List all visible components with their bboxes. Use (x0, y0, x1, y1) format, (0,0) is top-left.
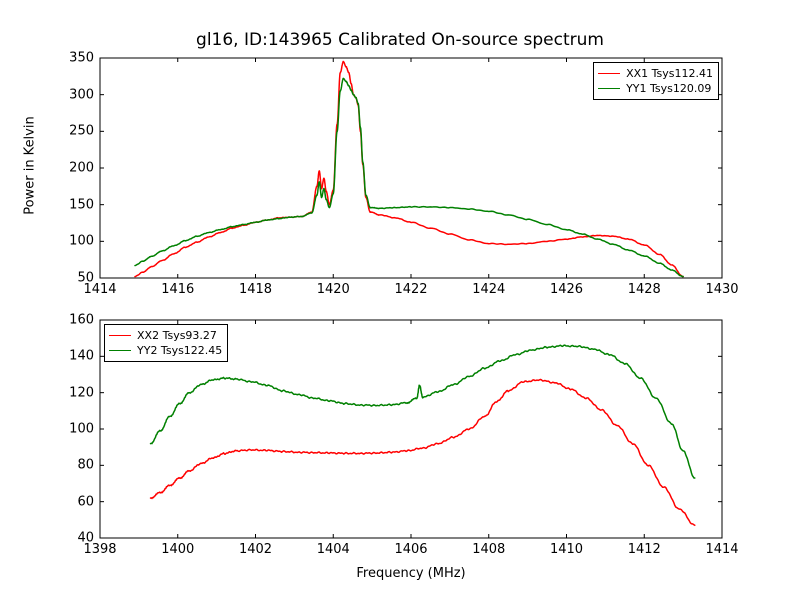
legend-label: YY2 Tsys122.45 (137, 343, 222, 358)
legend-color-swatch (598, 88, 620, 89)
y-tick-label: 250 (54, 124, 94, 139)
legend-item[interactable]: XX1 Tsys112.41 (598, 66, 713, 81)
x-tick-label: 1426 (550, 282, 583, 297)
x-tick-label: 1400 (161, 542, 194, 557)
y-tick-label: 40 (54, 531, 94, 546)
y-tick-label: 60 (54, 494, 94, 509)
legend-item[interactable]: YY1 Tsys120.09 (598, 81, 713, 96)
y-tick-label: 120 (54, 385, 94, 400)
x-tick-label: 1424 (472, 282, 505, 297)
y-tick-label: 100 (54, 422, 94, 437)
y-tick-label: 160 (54, 313, 94, 328)
top-panel-legend[interactable]: XX1 Tsys112.41YY1 Tsys120.09 (593, 62, 719, 100)
y-tick-label: 100 (54, 234, 94, 249)
legend-color-swatch (109, 335, 131, 336)
top-panel-ylabel: Power in Kelvin (23, 86, 38, 246)
legend-color-swatch (109, 350, 131, 351)
y-tick-label: 80 (54, 458, 94, 473)
bottom-panel-legend[interactable]: XX2 Tsys93.27YY2 Tsys122.45 (104, 324, 228, 362)
x-tick-label: 1430 (705, 282, 738, 297)
legend-label: YY1 Tsys120.09 (626, 81, 711, 96)
x-tick-label: 1408 (472, 542, 505, 557)
y-tick-label: 300 (54, 87, 94, 102)
legend-label: XX1 Tsys112.41 (626, 66, 713, 81)
y-tick-label: 200 (54, 161, 94, 176)
y-tick-label: 350 (54, 51, 94, 66)
figure-title: gl16, ID:143965 Calibrated On-source spe… (0, 30, 800, 50)
y-tick-label: 150 (54, 197, 94, 212)
x-tick-label: 1410 (550, 542, 583, 557)
x-tick-label: 1416 (161, 282, 194, 297)
figure-canvas: gl16, ID:143965 Calibrated On-source spe… (0, 0, 800, 600)
y-tick-label: 50 (54, 271, 94, 286)
legend-item[interactable]: XX2 Tsys93.27 (109, 328, 222, 343)
x-tick-label: 1420 (317, 282, 350, 297)
legend-item[interactable]: YY2 Tsys122.45 (109, 343, 222, 358)
legend-color-swatch (598, 73, 620, 74)
x-tick-label: 1412 (628, 542, 661, 557)
x-tick-label: 1422 (394, 282, 427, 297)
bottom-panel-xlabel: Frequency (MHz) (100, 566, 722, 581)
x-tick-label: 1406 (394, 542, 427, 557)
legend-label: XX2 Tsys93.27 (137, 328, 217, 343)
x-tick-label: 1418 (239, 282, 272, 297)
x-tick-label: 1414 (705, 542, 738, 557)
x-tick-label: 1402 (239, 542, 272, 557)
x-tick-label: 1428 (628, 282, 661, 297)
y-tick-label: 140 (54, 349, 94, 364)
x-tick-label: 1404 (317, 542, 350, 557)
